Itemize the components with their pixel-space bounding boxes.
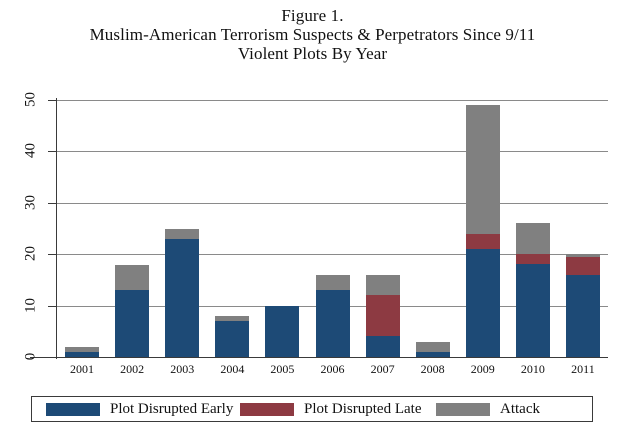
x-axis-label-2010: 2010 bbox=[506, 362, 560, 377]
bar-segment-2004-plot-disrupted-early bbox=[215, 321, 249, 357]
bar-segment-2001-attack bbox=[65, 347, 99, 352]
bar-segment-2010-plot-disrupted-early bbox=[516, 264, 550, 357]
figure-title-line-2: Muslim-American Terrorism Suspects & Per… bbox=[0, 25, 625, 44]
bar-segment-2004-attack bbox=[215, 316, 249, 321]
bar-segment-2008-plot-disrupted-early bbox=[416, 352, 450, 357]
bar-segment-2007-plot-disrupted-early bbox=[366, 336, 400, 357]
bar-group-2009 bbox=[466, 100, 500, 357]
y-axis-label-50: 50 bbox=[23, 85, 40, 115]
x-axis-label-2011: 2011 bbox=[556, 362, 610, 377]
figure-container: Figure 1. Muslim-American Terrorism Susp… bbox=[0, 0, 625, 437]
bar-segment-2011-attack bbox=[566, 254, 600, 257]
y-axis-tick-20 bbox=[48, 254, 57, 255]
chart-legend: Plot Disrupted Early Plot Disrupted Late… bbox=[31, 396, 593, 422]
x-axis-label-2003: 2003 bbox=[155, 362, 209, 377]
bar-segment-2006-plot-disrupted-early bbox=[316, 290, 350, 357]
bar-segment-2001-plot-disrupted-early bbox=[65, 352, 99, 357]
y-axis-tick-0 bbox=[48, 357, 57, 358]
x-axis-label-2009: 2009 bbox=[456, 362, 510, 377]
y-axis-label-40: 40 bbox=[23, 136, 40, 166]
bar-segment-2002-plot-disrupted-early bbox=[115, 290, 149, 357]
y-axis-tick-50 bbox=[48, 100, 57, 101]
legend-swatch-plot-disrupted-late bbox=[240, 403, 294, 416]
bar-group-2011 bbox=[566, 100, 600, 357]
bar-segment-2002-attack bbox=[115, 265, 149, 291]
x-axis-line bbox=[30, 357, 608, 358]
bar-group-2003 bbox=[165, 100, 199, 357]
legend-label-attack: Attack bbox=[500, 401, 540, 418]
legend-swatch-attack bbox=[436, 403, 490, 416]
bar-segment-2005-plot-disrupted-early bbox=[265, 306, 299, 357]
bar-group-2004 bbox=[215, 100, 249, 357]
x-axis-label-2005: 2005 bbox=[255, 362, 309, 377]
x-axis-label-2008: 2008 bbox=[406, 362, 460, 377]
x-axis-label-2002: 2002 bbox=[105, 362, 159, 377]
bar-group-2007 bbox=[366, 100, 400, 357]
plot-area bbox=[57, 100, 608, 357]
bar-segment-2007-attack bbox=[366, 275, 400, 296]
y-axis-tick-30 bbox=[48, 203, 57, 204]
legend-label-plot-disrupted-late: Plot Disrupted Late bbox=[304, 401, 421, 418]
bar-segment-2008-attack bbox=[416, 342, 450, 352]
bar-group-2002 bbox=[115, 100, 149, 357]
bar-segment-2007-plot-disrupted-late bbox=[366, 295, 400, 336]
legend-entry-attack: Attack bbox=[436, 397, 540, 421]
y-axis-label-0: 0 bbox=[23, 342, 40, 372]
x-axis-label-2001: 2001 bbox=[55, 362, 109, 377]
bar-group-2001 bbox=[65, 100, 99, 357]
figure-title: Figure 1. Muslim-American Terrorism Susp… bbox=[0, 6, 625, 63]
bar-segment-2006-attack bbox=[316, 275, 350, 290]
x-axis-label-2006: 2006 bbox=[306, 362, 360, 377]
bar-segment-2010-plot-disrupted-late bbox=[516, 254, 550, 264]
y-axis-tick-10 bbox=[48, 306, 57, 307]
y-axis-label-30: 30 bbox=[23, 187, 40, 217]
bar-segment-2011-plot-disrupted-late bbox=[566, 257, 600, 275]
figure-title-line-3: Violent Plots By Year bbox=[0, 44, 625, 63]
legend-entry-plot-disrupted-early: Plot Disrupted Early bbox=[46, 397, 233, 421]
y-axis-tick-40 bbox=[48, 151, 57, 152]
bar-group-2005 bbox=[265, 100, 299, 357]
bar-segment-2009-plot-disrupted-early bbox=[466, 249, 500, 357]
legend-entry-plot-disrupted-late: Plot Disrupted Late bbox=[240, 397, 421, 421]
y-axis-label-10: 10 bbox=[23, 290, 40, 320]
figure-title-line-1: Figure 1. bbox=[0, 6, 625, 25]
y-axis-label-20: 20 bbox=[23, 239, 40, 269]
bar-group-2008 bbox=[416, 100, 450, 357]
x-axis-label-2004: 2004 bbox=[205, 362, 259, 377]
x-axis-label-2007: 2007 bbox=[356, 362, 410, 377]
bar-group-2010 bbox=[516, 100, 550, 357]
x-axis-labels: 2001200220032004200520062007200820092010… bbox=[57, 362, 608, 382]
bar-segment-2003-plot-disrupted-early bbox=[165, 239, 199, 357]
legend-swatch-plot-disrupted-early bbox=[46, 403, 100, 416]
bar-segment-2011-plot-disrupted-early bbox=[566, 275, 600, 357]
bar-segment-2003-attack bbox=[165, 229, 199, 239]
bar-segment-2009-plot-disrupted-late bbox=[466, 234, 500, 249]
bar-group-2006 bbox=[316, 100, 350, 357]
bar-segment-2010-attack bbox=[516, 223, 550, 254]
bar-segment-2009-attack bbox=[466, 105, 500, 234]
legend-label-plot-disrupted-early: Plot Disrupted Early bbox=[110, 401, 233, 418]
